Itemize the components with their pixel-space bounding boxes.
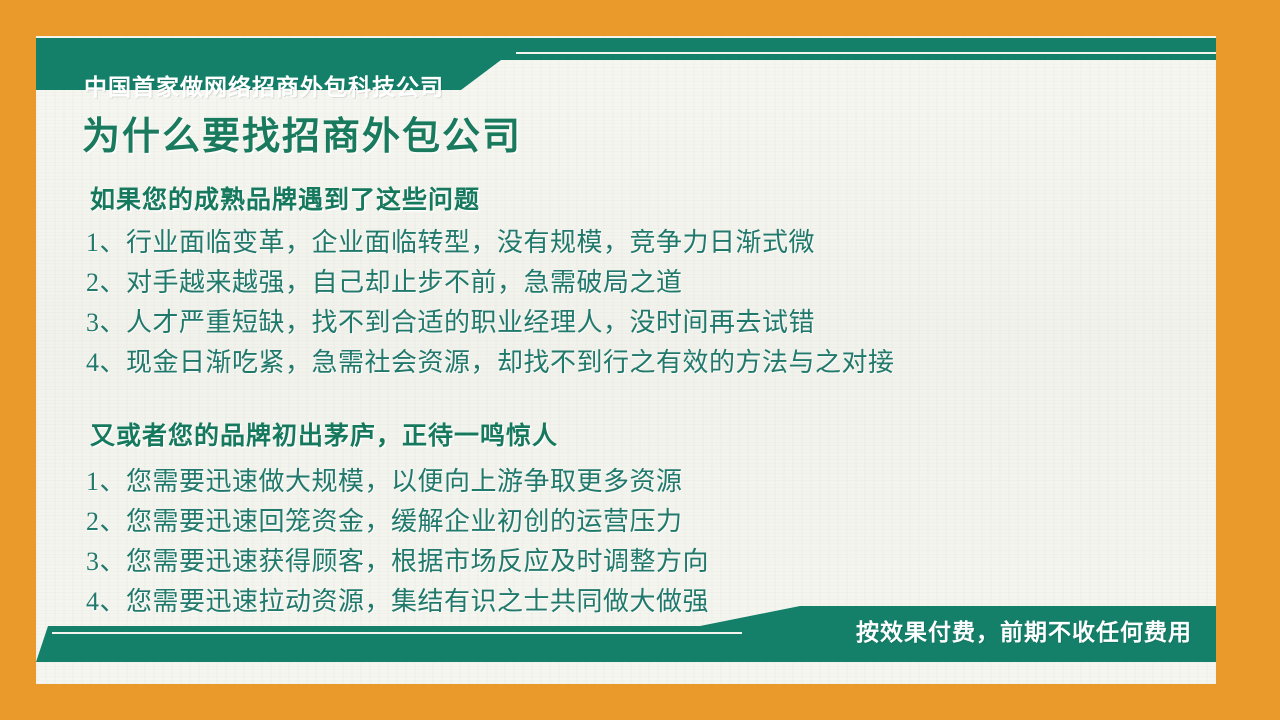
paper-sheet: 中国首家做网络招商外包科技公司 为什么要找招商外包公司 如果您的成熟品牌遇到了这… [36,36,1216,684]
bullet-list-mature-brand: 1、行业面临变革，企业面临转型，没有规模，竞争力日渐式微 2、对手越来越强，自己… [86,223,895,383]
page-title: 为什么要找招商外包公司 [82,118,522,156]
list-item: 4、现金日渐吃紧，急需社会资源，却找不到行之有效的方法与之对接 [86,343,895,383]
header-title: 中国首家做网络招商外包科技公司 [84,76,444,99]
list-item: 1、行业面临变革，企业面临转型，没有规模，竞争力日渐式微 [86,223,895,263]
list-item: 3、人才严重短缺，找不到合适的职业经理人，没时间再去试错 [86,303,895,343]
list-item: 2、您需要迅速回笼资金，缓解企业初创的运营压力 [86,502,709,542]
slide: 中国首家做网络招商外包科技公司 为什么要找招商外包公司 如果您的成熟品牌遇到了这… [0,0,1280,720]
list-item: 4、您需要迅速拉动资源，集结有识之士共同做大做强 [86,582,709,622]
list-item: 3、您需要迅速获得顾客，根据市场反应及时调整方向 [86,542,709,582]
footer-accent-line [52,632,742,634]
list-item: 1、您需要迅速做大规模，以便向上游争取更多资源 [86,462,709,502]
footer-tagline: 按效果付费，前期不收任何费用 [856,621,1192,644]
header-accent-line [516,52,1216,54]
section-heading-new-brand: 又或者您的品牌初出茅庐，正待一鸣惊人 [90,424,558,449]
section-heading-mature-brand: 如果您的成熟品牌遇到了这些问题 [90,188,480,213]
bullet-list-new-brand: 1、您需要迅速做大规模，以便向上游争取更多资源 2、您需要迅速回笼资金，缓解企业… [86,462,709,622]
list-item: 2、对手越来越强，自己却止步不前，急需破局之道 [86,263,895,303]
